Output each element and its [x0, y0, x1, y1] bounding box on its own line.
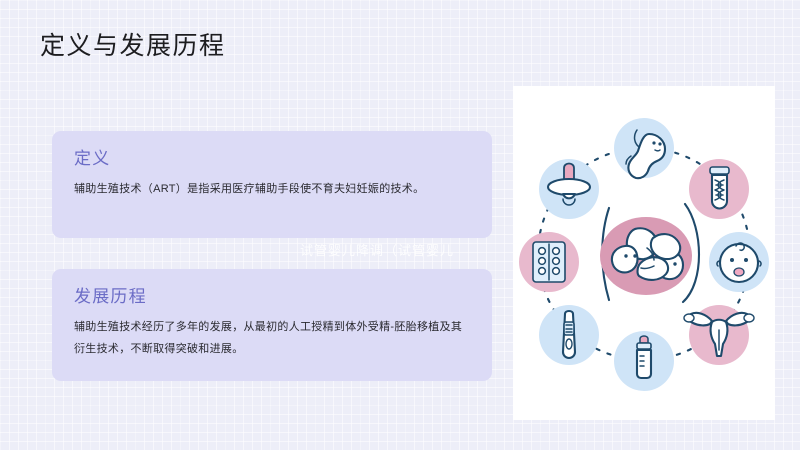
art-cycle-illustration: .ln { fill:none; stroke:#1f4a6b; stroke-… — [513, 86, 775, 420]
baby-face-icon — [709, 232, 769, 292]
uterus-ovaries-icon — [684, 305, 754, 365]
illustration-panel: .ln { fill:none; stroke:#1f4a6b; stroke-… — [513, 86, 775, 420]
pacifier-icon — [539, 159, 599, 219]
card-definition-body: 辅助生殖技术（ART）是指采用医疗辅助手段使不育夫妇妊娠的技术。 — [74, 178, 470, 200]
card-history-heading: 发展历程 — [74, 285, 470, 309]
card-history-body: 辅助生殖技术经历了多年的发展，从最初的人工授精到体外受精-胚胎移植及其衍生技术，… — [74, 316, 470, 360]
watermark-text: 试管婴儿降调（试管婴儿 — [300, 242, 530, 260]
card-history: 发展历程 辅助生殖技术经历了多年的发展，从最初的人工授精到体外受精-胚胎移植及其… — [52, 269, 492, 381]
page-title: 定义与发展历程 — [40, 30, 226, 62]
slide-canvas: 定义与发展历程 定义 辅助生殖技术（ART）是指采用医疗辅助手段使不育夫妇妊娠的… — [0, 0, 800, 450]
pill-blister-pack-icon — [519, 232, 579, 292]
baby-bottle-icon — [614, 331, 674, 391]
pregnancy-test-icon — [539, 305, 599, 365]
fetus-icon — [614, 118, 674, 178]
dna-test-tube-icon — [689, 159, 749, 219]
card-definition-heading: 定义 — [74, 147, 470, 171]
center-twins-icon — [600, 217, 692, 295]
card-definition: 定义 辅助生殖技术（ART）是指采用医疗辅助手段使不育夫妇妊娠的技术。 — [52, 131, 492, 238]
